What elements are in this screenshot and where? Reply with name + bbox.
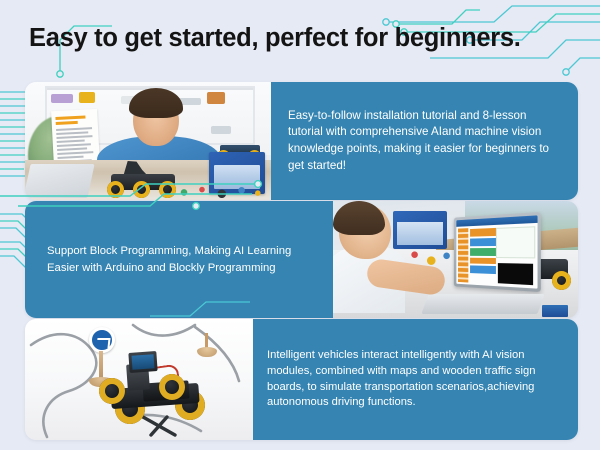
card-3-text-panel: Intelligent vehicles interact intelligen… — [253, 319, 578, 440]
feature-card-3: Intelligent vehicles interact intelligen… — [25, 319, 578, 440]
page-title: Easy to get started, perfect for beginne… — [29, 24, 521, 53]
card-3-image — [25, 319, 253, 440]
card-1-text-panel: Easy-to-follow installation tutorial and… — [271, 82, 578, 200]
card-2-text-panel: Support Block Programming, Making AI Lea… — [25, 201, 333, 318]
poster-root: Easy to get started, perfect for beginne… — [0, 0, 600, 450]
robot-arm-car-decor — [103, 163, 185, 199]
laptop-screen-blockly — [454, 212, 541, 292]
feature-card-2: Support Block Programming, Making AI Lea… — [25, 201, 578, 318]
card-1-image — [25, 82, 271, 200]
card-1-text: Easy-to-follow installation tutorial and… — [288, 108, 560, 174]
card-2-image — [333, 201, 578, 318]
card-3-text: Intelligent vehicles interact intelligen… — [267, 348, 562, 412]
laptop-decor — [25, 164, 95, 198]
card-2-text: Support Block Programming, Making AI Lea… — [47, 243, 315, 275]
feature-card-1: Easy-to-follow installation tutorial and… — [25, 82, 578, 200]
kit-box-decor-2 — [393, 211, 447, 249]
robot-car-decor-3 — [97, 350, 215, 426]
